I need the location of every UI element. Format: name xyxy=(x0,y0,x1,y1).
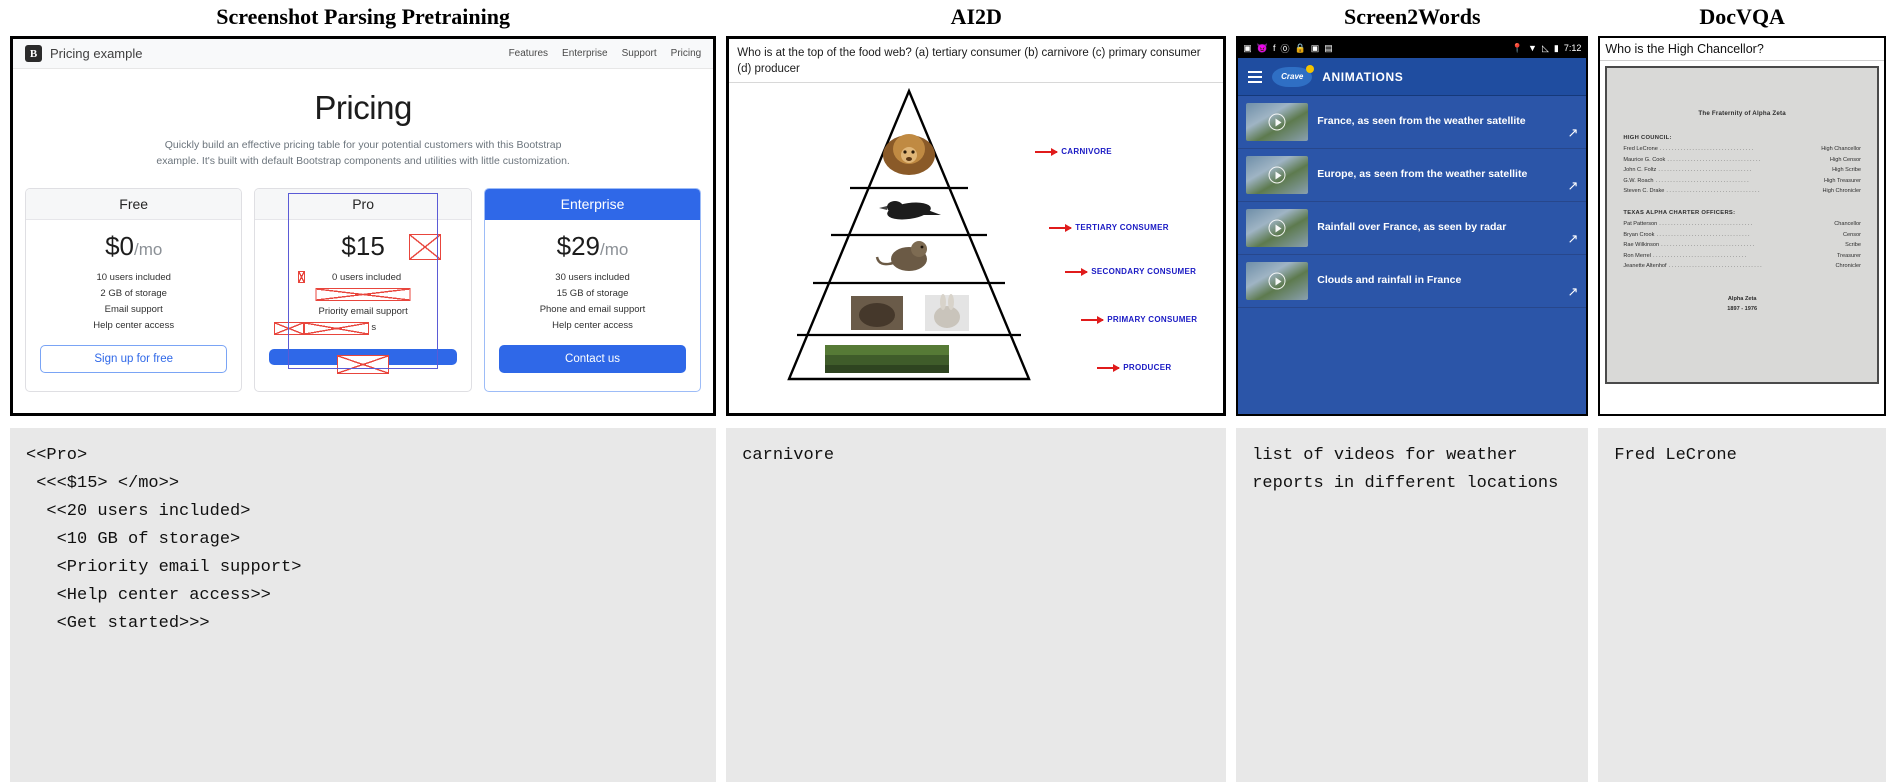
label-secondary-consumer: SECONDARY CONSUMER xyxy=(1065,267,1196,276)
roster-row: G.W. Roach .............................… xyxy=(1623,178,1861,184)
feature-item: Priority email support xyxy=(261,306,464,317)
nav-link-enterprise[interactable]: Enterprise xyxy=(562,48,608,59)
rodent-illustration xyxy=(877,241,927,271)
list-item[interactable]: Europe, as seen from the weather satelli… xyxy=(1238,149,1586,202)
label-producer: PRODUCER xyxy=(1097,363,1171,372)
menu-icon[interactable] xyxy=(1248,71,1262,83)
battery-icon: ▮ xyxy=(1554,43,1559,54)
pyramid-labels: CARNIVORE TERTIARY CONSUMER SECONDARY CO… xyxy=(1025,83,1215,387)
docvqa-panel: Who is the High Chancellor? The Fraterni… xyxy=(1598,36,1886,416)
page-title: Pricing xyxy=(13,89,713,127)
video-thumbnail[interactable] xyxy=(1246,209,1308,247)
card-features-free: 10 users included 2 GB of storage Email … xyxy=(32,272,235,331)
signal-icon: ◺ xyxy=(1542,43,1549,54)
card-body-free: $0/mo 10 users included 2 GB of storage … xyxy=(26,220,241,392)
feature-partial-text: 0 users included xyxy=(325,272,401,283)
screenshot-icon: ▣ xyxy=(1243,43,1252,54)
arrow-icon xyxy=(1049,227,1071,229)
weather-crave-app: ▣ 👿 f ⓪ 🔒 ▣ ▤ 📍 ▼ ◺ ▮ 7:12 xyxy=(1238,38,1586,414)
card-features-enterprise: 30 users included 15 GB of storage Phone… xyxy=(491,272,694,331)
roster-row: John C. Foltz ..........................… xyxy=(1623,167,1861,173)
video-title: France, as seen from the weather satelli… xyxy=(1317,115,1558,128)
card-title-enterprise: Enterprise xyxy=(485,189,700,220)
feature-item: Help center access xyxy=(32,320,235,331)
roster-row: Ron Merrel .............................… xyxy=(1623,253,1861,259)
person-name: Fred LeCrone xyxy=(1623,146,1658,152)
person-role: High Censor xyxy=(1830,157,1861,163)
play-icon xyxy=(1269,114,1286,131)
person-role: Chancellor xyxy=(1834,221,1861,227)
person-name: Ron Merrel xyxy=(1623,253,1651,259)
mask-cta-pro xyxy=(337,355,389,374)
label-text: PRODUCER xyxy=(1123,363,1171,372)
status-time: 7:12 xyxy=(1564,43,1582,53)
leader-dots: ................................ xyxy=(1666,188,1820,194)
video-title: Rainfall over France, as seen by radar xyxy=(1317,221,1558,234)
app-bar: Crave ANIMATIONS xyxy=(1238,58,1586,96)
nav-link-support[interactable]: Support xyxy=(622,48,657,59)
card-features-pro: 0 users included Priority email support … xyxy=(261,272,464,335)
share-icon[interactable]: ↗ xyxy=(1567,178,1578,194)
leader-dots: ................................ xyxy=(1661,242,1843,248)
leader-dots: ................................ xyxy=(1656,178,1823,184)
card-price-pro: $15 xyxy=(261,232,464,261)
list-item[interactable]: Rainfall over France, as seen by radar ↗ xyxy=(1238,202,1586,255)
leader-dots: ................................ xyxy=(1669,263,1834,269)
video-thumbnail[interactable] xyxy=(1246,262,1308,300)
figure-root: Screenshot Parsing Pretraining B Pricing… xyxy=(0,0,1896,782)
logo-text: Crave xyxy=(1281,72,1303,81)
list-item[interactable]: France, as seen from the weather satelli… xyxy=(1238,96,1586,149)
column-title-screen2words: Screen2Words xyxy=(1236,0,1588,36)
play-icon xyxy=(1269,273,1286,290)
mask-feature-help-b xyxy=(304,322,369,335)
label-carnivore: CARNIVORE xyxy=(1035,147,1112,156)
mask-feature-help-a xyxy=(274,322,304,335)
feature-item: Phone and email support xyxy=(491,304,694,315)
footer-years: 1897 - 1976 xyxy=(1623,305,1861,315)
list-item[interactable]: Clouds and rainfall in France ↗ xyxy=(1238,255,1586,308)
feature-partial-tail: s xyxy=(371,322,376,333)
leader-dots: ................................ xyxy=(1656,232,1841,238)
ai2d-panel: Who is at the top of the food web? (a) t… xyxy=(726,36,1226,416)
video-list: France, as seen from the weather satelli… xyxy=(1238,96,1586,414)
food-pyramid-diagram: CARNIVORE TERTIARY CONSUMER SECONDARY CO… xyxy=(729,83,1223,387)
feature-item: Help center access xyxy=(491,320,694,331)
logo-dot-icon xyxy=(1306,65,1314,73)
label-text: CARNIVORE xyxy=(1061,147,1112,156)
person-name: Bryan Crook xyxy=(1623,232,1654,238)
play-icon xyxy=(1269,167,1286,184)
arrow-icon xyxy=(1065,271,1087,273)
card-title-pro: Pro xyxy=(255,189,470,220)
leader-dots: ................................ xyxy=(1660,146,1819,152)
label-text: SECONDARY CONSUMER xyxy=(1091,267,1196,276)
person-name: John C. Foltz xyxy=(1623,167,1656,173)
feature-item: Email support xyxy=(32,304,235,315)
mobile-app-panel: ▣ 👿 f ⓪ 🔒 ▣ ▤ 📍 ▼ ◺ ▮ 7:12 xyxy=(1236,36,1588,416)
person-role: Chronicler xyxy=(1836,263,1862,269)
card-body-pro: $15 0 users included Priority email xyxy=(255,220,470,392)
caption-screen2words: list of videos for weather reports in di… xyxy=(1236,428,1588,782)
leader-dots: ................................ xyxy=(1667,157,1828,163)
card-body-enterprise: $29/mo 30 users included 15 GB of storag… xyxy=(485,220,700,392)
roster-row: Fred LeCrone ...........................… xyxy=(1623,146,1861,152)
arrow-icon xyxy=(1081,319,1103,321)
column-title-parsing: Screenshot Parsing Pretraining xyxy=(10,0,716,36)
pricing-cards: Free $0/mo 10 users included 2 GB of sto… xyxy=(13,174,713,403)
column-title-ai2d: AI2D xyxy=(726,0,1226,36)
wifi-icon: ▼ xyxy=(1528,43,1537,53)
facebook-icon: f xyxy=(1273,43,1276,53)
person-role: Treasurer xyxy=(1837,253,1861,259)
feature-item-masked xyxy=(261,288,464,301)
roster-row: Steven C. Drake ........................… xyxy=(1623,188,1861,194)
play-icon xyxy=(1269,220,1286,237)
feature-item: 15 GB of storage xyxy=(491,288,694,299)
video-thumbnail[interactable] xyxy=(1246,156,1308,194)
pricing-page-panel: B Pricing example Features Enterprise Su… xyxy=(10,36,716,416)
feature-item-masked: s xyxy=(261,322,464,335)
roster-row: Rae Wilkinson ..........................… xyxy=(1623,242,1861,248)
nav-link-features[interactable]: Features xyxy=(509,48,548,59)
hero-section: Pricing Quickly build an effective prici… xyxy=(13,69,713,174)
app-bar-title: ANIMATIONS xyxy=(1322,70,1403,84)
label-text: TERTIARY CONSUMER xyxy=(1075,223,1169,232)
bird-illustration xyxy=(879,200,941,222)
share-icon[interactable]: ↗ xyxy=(1567,284,1578,300)
person-name: Maurice G. Cook xyxy=(1623,157,1665,163)
pricing-card-enterprise: Enterprise $29/mo 30 users included 15 G… xyxy=(484,188,701,393)
signup-free-button[interactable]: Sign up for free xyxy=(40,345,227,373)
contact-us-button[interactable]: Contact us xyxy=(499,345,686,373)
location-icon: 📍 xyxy=(1512,43,1523,54)
mask-price-period-pro xyxy=(409,234,441,260)
person-role: High Scribe xyxy=(1832,167,1861,173)
roster-row: Bryan Crook ............................… xyxy=(1623,232,1861,238)
label-primary-consumer: PRIMARY CONSUMER xyxy=(1081,315,1197,324)
android-robot-icon: ▤ xyxy=(1324,43,1333,54)
price-amount-enterprise: $29 xyxy=(557,231,600,261)
nav-link-pricing[interactable]: Pricing xyxy=(671,48,702,59)
mask-feature-digit xyxy=(298,271,305,283)
roster-row: Jeanette Altenhof ......................… xyxy=(1623,263,1861,269)
android-status-bar: ▣ 👿 f ⓪ 🔒 ▣ ▤ 📍 ▼ ◺ ▮ 7:12 xyxy=(1238,38,1586,58)
caption-parsing: <<Pro> <<<$15> </mo>> <<20 users include… xyxy=(10,428,716,782)
document-title: The Fraternity of Alpha Zeta xyxy=(1623,110,1861,117)
section-heading-charter-officers: TEXAS ALPHA CHARTER OFFICERS: xyxy=(1623,210,1861,216)
person-name: Steven C. Drake xyxy=(1623,188,1664,194)
crave-logo-icon: Crave xyxy=(1272,67,1312,87)
column-title-docvqa: DocVQA xyxy=(1598,0,1886,36)
card-price-free: $0/mo xyxy=(32,232,235,261)
price-period-free: /mo xyxy=(134,240,162,259)
leader-dots: ................................ xyxy=(1653,253,1835,259)
leader-dots: ................................ xyxy=(1658,167,1830,173)
card-title-free: Free xyxy=(26,189,241,220)
person-role: Scribe xyxy=(1845,242,1861,248)
person-role: High Treasurer xyxy=(1824,178,1861,184)
feature-item: 2 GB of storage xyxy=(32,288,235,299)
app-icon-cat: 👿 xyxy=(1257,43,1268,54)
label-text: PRIMARY CONSUMER xyxy=(1107,315,1197,324)
person-name: Pat Patterson xyxy=(1623,221,1657,227)
lock-icon: 🔒 xyxy=(1295,43,1306,54)
person-role: High Chancellor xyxy=(1821,146,1861,152)
price-period-enterprise: /mo xyxy=(600,240,628,259)
arrow-icon xyxy=(1097,367,1119,369)
person-name: Jeanette Altenhof xyxy=(1623,263,1666,269)
caption-ai2d: carnivore xyxy=(726,428,1226,782)
roster-row: Pat Patterson ..........................… xyxy=(1623,221,1861,227)
scanned-document: The Fraternity of Alpha Zeta HIGH COUNCI… xyxy=(1605,66,1879,384)
docvqa-question: Who is the High Chancellor? xyxy=(1600,38,1884,61)
get-started-button[interactable] xyxy=(269,349,456,365)
video-title: Clouds and rainfall in France xyxy=(1317,274,1558,287)
column-screen2words: Screen2Words ▣ 👿 f ⓪ 🔒 ▣ ▤ 📍 ▼ ◺ ▮ xyxy=(1236,0,1588,782)
caption-docvqa: Fred LeCrone xyxy=(1598,428,1886,782)
document-footer: Alpha Zeta 1897 - 1976 xyxy=(1623,295,1861,314)
card-price-enterprise: $29/mo xyxy=(491,232,694,261)
video-title: Europe, as seen from the weather satelli… xyxy=(1317,168,1558,181)
person-name: Rae Wilkinson xyxy=(1623,242,1659,248)
roster-row: Maurice G. Cook ........................… xyxy=(1623,157,1861,163)
feature-item-partial: 0 users included xyxy=(261,272,464,283)
video-thumbnail[interactable] xyxy=(1246,103,1308,141)
label-tertiary-consumer: TERTIARY CONSUMER xyxy=(1049,223,1169,232)
ai2d-question: Who is at the top of the food web? (a) t… xyxy=(729,39,1223,83)
share-icon[interactable]: ↗ xyxy=(1567,125,1578,141)
person-name: G.W. Roach xyxy=(1623,178,1653,184)
status-right-cluster: 📍 ▼ ◺ ▮ 7:12 xyxy=(1512,43,1582,54)
column-docvqa: DocVQA Who is the High Chancellor? The F… xyxy=(1598,0,1886,782)
pricing-card-pro: Pro $15 0 users included xyxy=(254,188,471,393)
check-app-icon: ▣ xyxy=(1311,43,1320,54)
price-amount-free: $0 xyxy=(105,231,134,261)
info-icon: ⓪ xyxy=(1280,42,1289,55)
price-amount-pro: $15 xyxy=(341,231,384,261)
lion-illustration xyxy=(883,134,935,175)
mask-feature-storage xyxy=(316,288,411,301)
hero-subtext: Quickly build an effective pricing table… xyxy=(156,137,571,170)
leader-dots: ................................ xyxy=(1659,221,1832,227)
navbar-links: Features Enterprise Support Pricing xyxy=(509,48,702,59)
bootstrap-logo-icon: B xyxy=(25,45,42,62)
footer-org: Alpha Zeta xyxy=(1623,295,1861,305)
column-ai2d: AI2D Who is at the top of the food web? … xyxy=(726,0,1226,782)
pricing-card-free: Free $0/mo 10 users included 2 GB of sto… xyxy=(25,188,242,393)
section-heading-high-council: HIGH COUNCIL: xyxy=(1623,135,1861,141)
navbar-brand[interactable]: Pricing example xyxy=(50,46,143,61)
column-screenshot-parsing: Screenshot Parsing Pretraining B Pricing… xyxy=(10,0,716,782)
feature-item: 30 users included xyxy=(491,272,694,283)
share-icon[interactable]: ↗ xyxy=(1567,231,1578,247)
feature-item: 10 users included xyxy=(32,272,235,283)
navbar: B Pricing example Features Enterprise Su… xyxy=(13,39,713,69)
person-role: Censor xyxy=(1843,232,1861,238)
person-role: High Chronicler xyxy=(1822,188,1861,194)
arrow-icon xyxy=(1035,151,1057,153)
